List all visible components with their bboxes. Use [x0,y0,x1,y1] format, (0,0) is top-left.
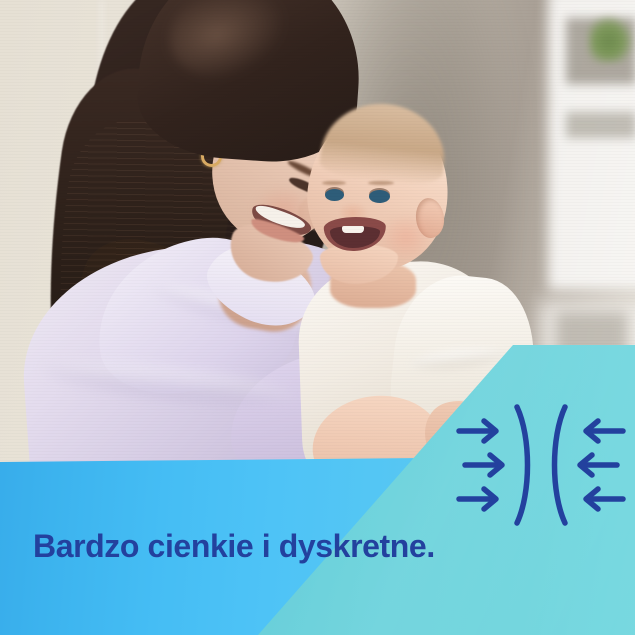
baby-tooth [342,226,364,233]
plant-decoration [589,16,633,62]
baby-eye-left [325,189,344,201]
thinness-compression-icon [455,403,627,527]
shelf-opening-middle [566,112,635,138]
ad-banner: Bardzo cienkie i dyskretne. [0,0,635,635]
arrows-left [459,421,502,509]
arrows-right [580,421,623,509]
curve-left [517,407,528,523]
headline-text: Bardzo cienkie i dyskretne. [33,529,435,564]
baby-eyebrow-left [322,181,346,185]
baby-eyebrow-right [368,181,394,185]
baby-eye-right [369,190,390,203]
